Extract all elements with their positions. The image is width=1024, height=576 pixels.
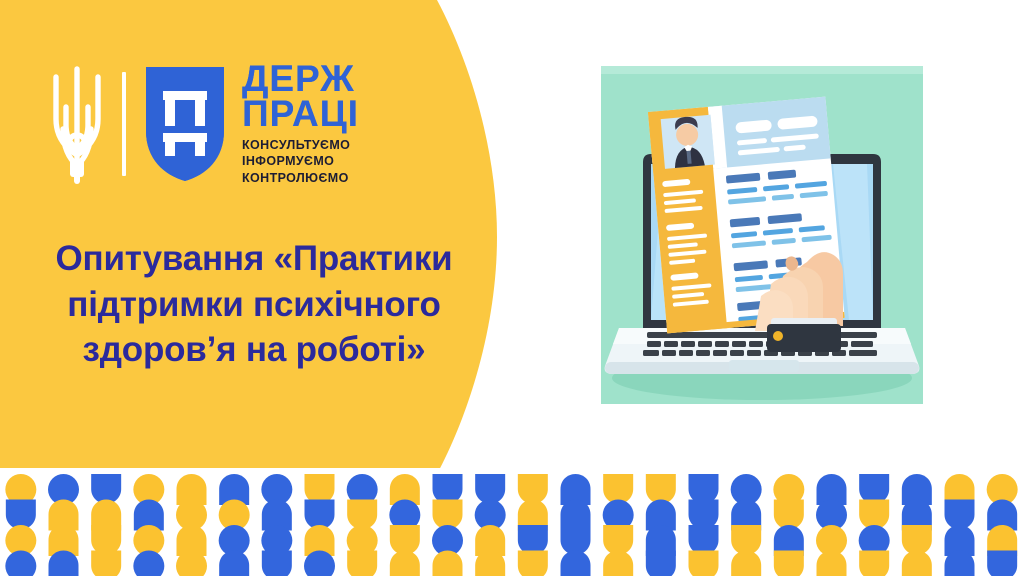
title-line-1: Опитування «Практики [24, 236, 484, 282]
poster-title: Опитування «Практики підтримки психічног… [24, 236, 484, 373]
tagline-line-2: ІНФОРМУЄМО [242, 154, 359, 169]
laptop-resume-illustration [601, 66, 923, 404]
laptop-trackpad [729, 360, 799, 372]
pattern-shape-arch [433, 551, 463, 576]
pattern-shape-shield [518, 551, 548, 576]
poster-canvas: ДЕРЖ ПРАЦІ КОНСУЛЬТУЄМО ІНФОРМУЄМО КОНТР… [0, 0, 1024, 576]
logo-word-derzh: ДЕРЖ [242, 62, 359, 96]
ukrainian-trident-icon [46, 63, 108, 185]
tagline-line-1: КОНСУЛЬТУЄМО [242, 138, 359, 153]
pattern-shape-arch [219, 551, 249, 576]
title-line-3: здоров’я на роботі» [24, 327, 484, 373]
pattern-shape-arch [731, 551, 761, 576]
pattern-shape-arch [817, 551, 847, 576]
pattern-shape-shield [859, 551, 889, 576]
pattern-shape-arch [390, 551, 420, 576]
logo-divider [122, 72, 126, 176]
logo-wordmark: ДЕРЖ ПРАЦІ КОНСУЛЬТУЄМО ІНФОРМУЄМО КОНТР… [242, 62, 359, 186]
title-line-2: підтримки психічного [24, 282, 484, 328]
suit-cuff [767, 318, 841, 352]
pattern-shape-arch [561, 551, 591, 576]
logo-word-pratsi: ПРАЦІ [242, 97, 359, 131]
pattern-shape-shield [774, 551, 804, 576]
decorative-pattern-band [0, 468, 1024, 576]
pattern-shape-shield [91, 551, 121, 576]
pattern-shape-arch [603, 551, 633, 576]
logo-tagline: КОНСУЛЬТУЄМО ІНФОРМУЄМО КОНТРОЛЮЄМО [242, 138, 359, 186]
pattern-shape-circle [133, 551, 164, 576]
derzhpratsi-shield-icon [142, 63, 228, 185]
pattern-shape-shield [347, 551, 377, 576]
pattern-shape-shield [262, 551, 292, 576]
derzhpratsi-logo: ДЕРЖ ПРАЦІ КОНСУЛЬТУЄМО ІНФОРМУЄМО КОНТР… [46, 62, 359, 186]
pattern-shape-arch [902, 551, 932, 576]
pattern-shape-shield [646, 551, 676, 576]
pattern-shape-circle [5, 551, 36, 576]
pattern-shape-shield [689, 551, 719, 576]
pattern-shape-shield [987, 551, 1017, 576]
tagline-line-3: КОНТРОЛЮЄМО [242, 171, 359, 186]
cuff-button [773, 331, 783, 341]
